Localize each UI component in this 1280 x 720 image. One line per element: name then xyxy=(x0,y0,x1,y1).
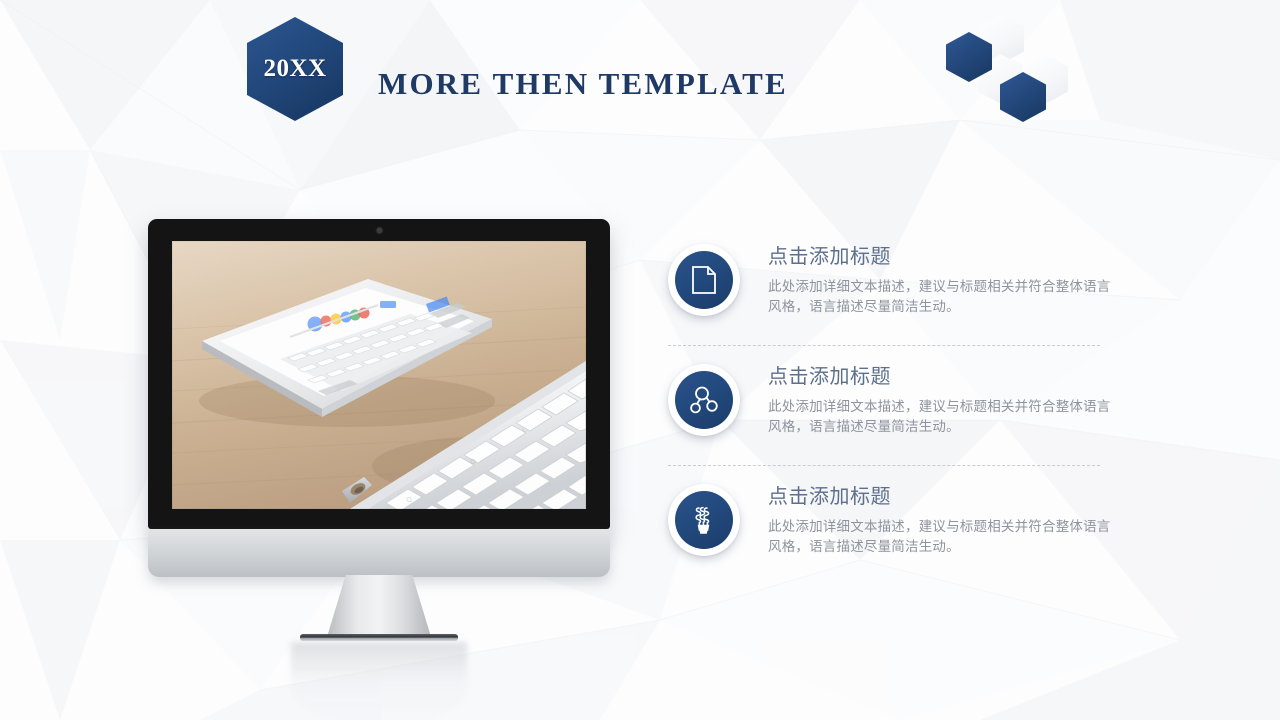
presentation-slide: 20XX MORE THEN TEMPLATE xyxy=(0,0,1280,720)
slide-header: 20XX MORE THEN TEMPLATE xyxy=(0,0,1280,140)
feature-title: 点击添加标题 xyxy=(768,484,1128,510)
list-item[interactable]: 点击添加标题 此处添加详细文本描述，建议与标题相关并符合整体语言风格，语言描述尽… xyxy=(660,236,1130,336)
monitor-stand-base xyxy=(300,634,458,641)
feature-text-block: 点击添加标题 此处添加详细文本描述，建议与标题相关并符合整体语言风格，语言描述尽… xyxy=(768,244,1128,317)
feature-list: 点击添加标题 此处添加详细文本描述，建议与标题相关并符合整体语言风格，语言描述尽… xyxy=(660,236,1130,576)
feature-description: 此处添加详细文本描述，建议与标题相关并符合整体语言风格，语言描述尽量简洁生动。 xyxy=(768,277,1116,317)
webcam-icon xyxy=(377,228,382,233)
feature-icon-ring xyxy=(668,244,740,316)
feature-icon-ring xyxy=(668,484,740,556)
network-share-icon xyxy=(675,371,733,429)
desktop-monitor-mockup: Q O L xyxy=(148,219,610,589)
monitor-chin xyxy=(148,529,610,577)
list-divider xyxy=(668,345,1100,347)
feature-description: 此处添加详细文本描述，建议与标题相关并符合整体语言风格，语言描述尽量简洁生动。 xyxy=(768,397,1116,437)
cfl-lightbulb-icon xyxy=(675,491,733,549)
monitor-reflection xyxy=(291,642,467,720)
feature-text-block: 点击添加标题 此处添加详细文本描述，建议与标题相关并符合整体语言风格，语言描述尽… xyxy=(768,484,1128,557)
feature-text-block: 点击添加标题 此处添加详细文本描述，建议与标题相关并符合整体语言风格，语言描述尽… xyxy=(768,364,1128,437)
monitor-screen-photo: Q O L xyxy=(172,241,586,509)
page-title: MORE THEN TEMPLATE xyxy=(378,66,788,102)
hexagon-cluster-decoration xyxy=(946,14,1076,119)
feature-title: 点击添加标题 xyxy=(768,244,1128,270)
document-page-icon xyxy=(675,251,733,309)
feature-description: 此处添加详细文本描述，建议与标题相关并符合整体语言风格，语言描述尽量简洁生动。 xyxy=(768,517,1116,557)
list-divider xyxy=(668,465,1100,467)
feature-title: 点击添加标题 xyxy=(768,364,1128,390)
monitor-bezel: Q O L xyxy=(148,219,610,529)
year-label: 20XX xyxy=(247,17,343,121)
list-item[interactable]: 点击添加标题 此处添加详细文本描述，建议与标题相关并符合整体语言风格，语言描述尽… xyxy=(660,476,1130,576)
year-hexagon-badge: 20XX xyxy=(247,17,343,121)
list-item[interactable]: 点击添加标题 此处添加详细文本描述，建议与标题相关并符合整体语言风格，语言描述尽… xyxy=(660,356,1130,456)
feature-icon-ring xyxy=(668,364,740,436)
monitor-stand-neck xyxy=(327,575,431,637)
